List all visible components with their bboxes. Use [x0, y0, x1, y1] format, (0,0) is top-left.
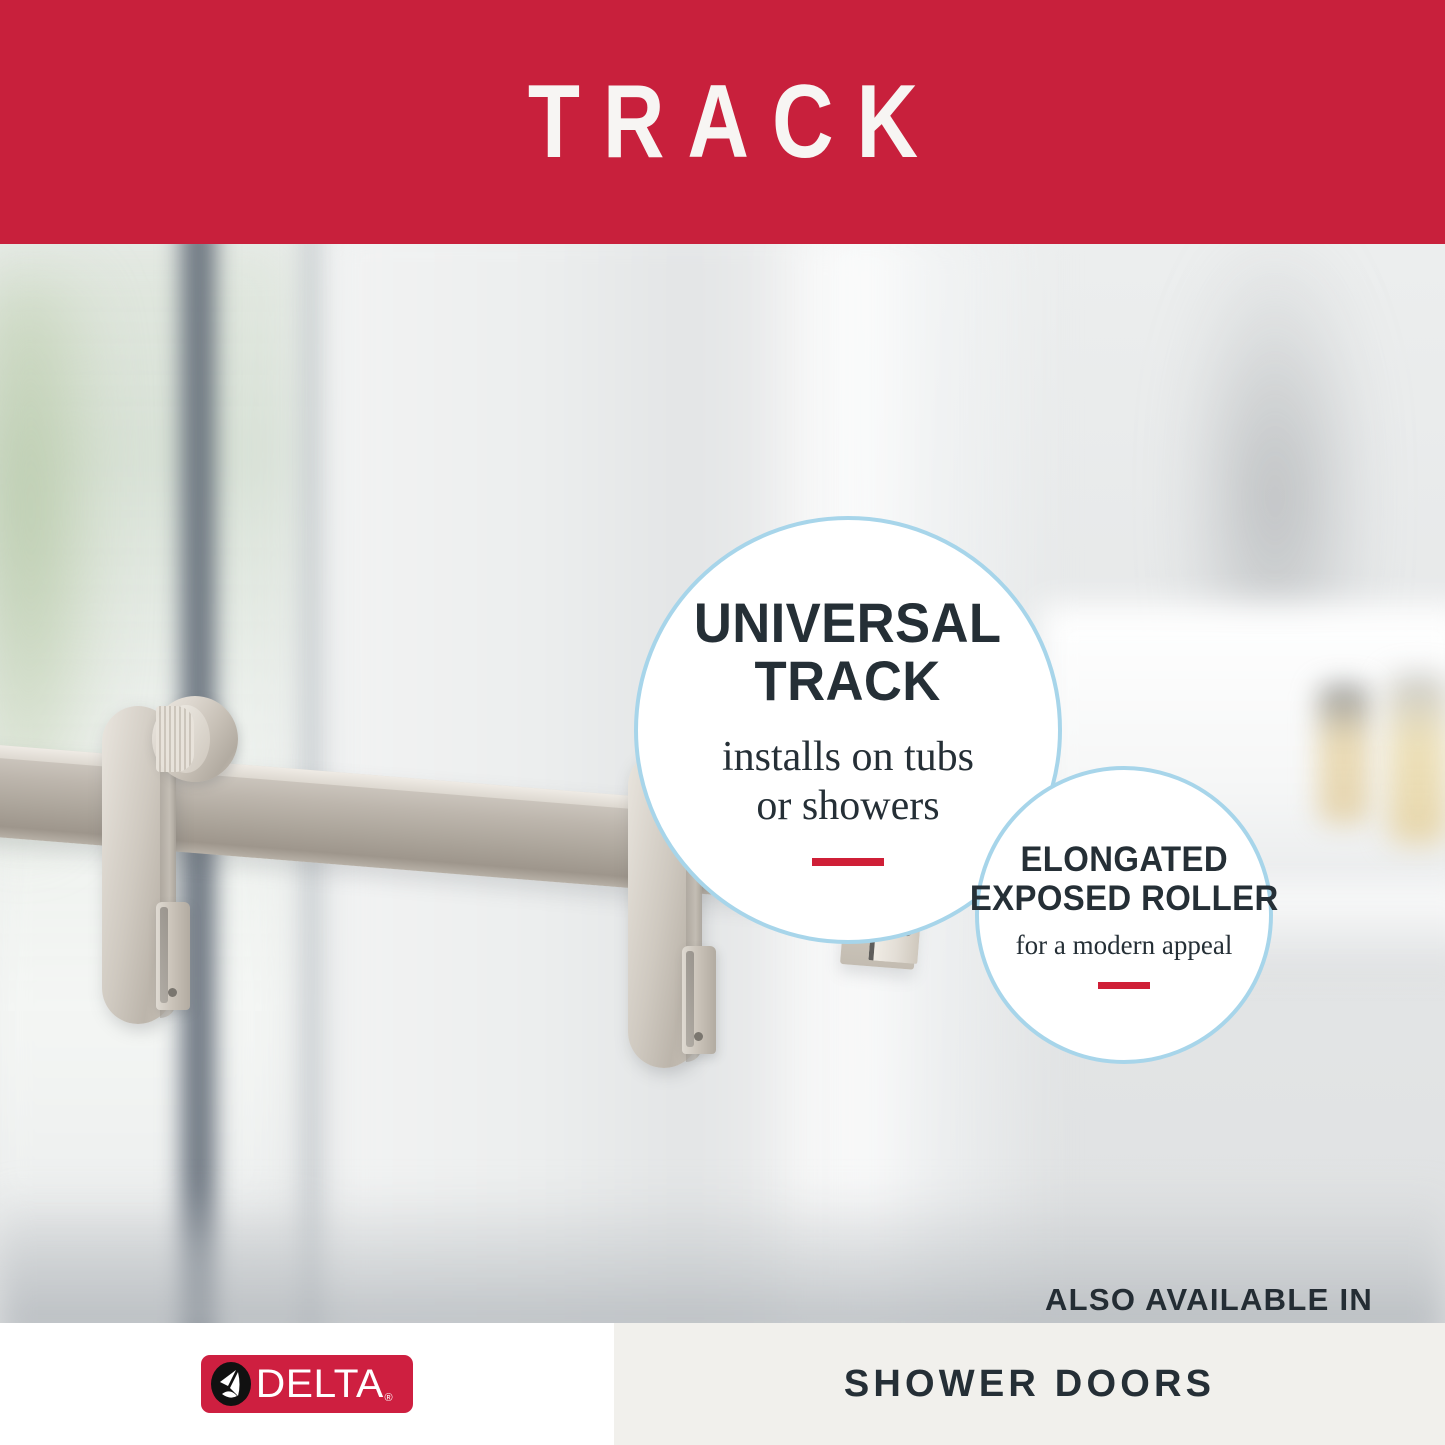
also-available-title: ALSO AVAILABLE IN — [1045, 1282, 1345, 1318]
delta-registered-mark: ® — [385, 1392, 393, 1404]
callout-subtext: installs on tubs or showers — [722, 733, 974, 832]
door-hanger-hook — [156, 902, 190, 1010]
delta-logo[interactable]: DELTA ® — [201, 1355, 413, 1413]
delta-wordmark: DELTA — [256, 1364, 384, 1404]
footer-tagline: SHOWER DOORS — [844, 1363, 1215, 1406]
footer-bar: DELTA ® SHOWER DOORS — [0, 1323, 1445, 1445]
delta-triangle-icon — [208, 1361, 254, 1407]
hanger-set-screw — [168, 988, 177, 997]
callout-accent-rule — [812, 858, 884, 866]
callout-heading-line-1: ELONGATED — [970, 841, 1279, 880]
hanger-set-screw — [694, 1032, 703, 1041]
callout-subtext-line-1: installs on tubs — [722, 733, 974, 783]
also-available-block: ALSO AVAILABLE IN CHROME MATTE BLACK — [1045, 1282, 1345, 1323]
callout-accent-rule — [1098, 982, 1150, 989]
header-banner: TRACK — [0, 0, 1445, 244]
callout-subtext-line-1: for a modern appeal — [1016, 930, 1233, 962]
background-bottle-left — [1318, 684, 1370, 824]
callout-heading-line-2: EXPOSED ROLLER — [970, 880, 1279, 919]
callout-subtext-line-2: or showers — [722, 782, 974, 832]
background-right-shadow — [1180, 244, 1370, 664]
callout-heading: ELONGATED EXPOSED ROLLER — [970, 841, 1279, 918]
product-photo-stage: BRUSHED NICKEL UNIVERSAL TRACK installs … — [0, 244, 1445, 1323]
door-hanger-hook — [682, 946, 716, 1054]
roller-hub-ribs — [156, 706, 194, 772]
background-bottle-right — [1388, 674, 1445, 844]
footer-brand-area: DELTA ® — [0, 1323, 614, 1445]
footer-tagline-area: SHOWER DOORS — [614, 1323, 1445, 1445]
callout-elongated-exposed-roller: ELONGATED EXPOSED ROLLER for a modern ap… — [975, 766, 1273, 1064]
callout-heading: UNIVERSAL TRACK — [694, 594, 1002, 710]
poster-canvas: TRACK — [0, 0, 1445, 1445]
callout-subtext: for a modern appeal — [1016, 930, 1233, 962]
page-title: TRACK — [504, 70, 940, 174]
callout-heading-line-2: TRACK — [694, 652, 1002, 710]
callout-heading-line-1: UNIVERSAL — [694, 594, 1002, 652]
